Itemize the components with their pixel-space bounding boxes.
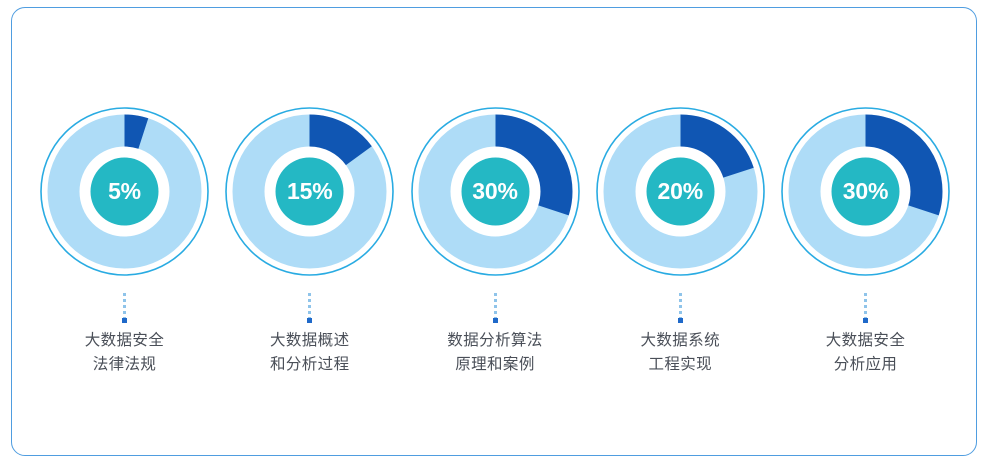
donut-svg <box>218 100 401 283</box>
donut-item: 30%数据分析算法原理和案例 <box>404 100 587 378</box>
donut-svg <box>774 100 957 283</box>
donut-center-disc <box>461 158 529 226</box>
caption-line: 原理和案例 <box>447 353 542 377</box>
donut-chart[interactable]: 5% <box>33 100 216 283</box>
caption-line: 和分析过程 <box>270 353 350 377</box>
connector-line <box>864 293 867 327</box>
donut-item: 5%大数据安全法律法规 <box>33 100 216 378</box>
infographic-root: 5%大数据安全法律法规15%大数据概述和分析过程30%数据分析算法原理和案例20… <box>0 0 990 464</box>
caption-line: 大数据安全 <box>85 329 165 353</box>
donut-chart[interactable]: 30% <box>774 100 957 283</box>
donut-center-disc <box>646 158 714 226</box>
connector-dots <box>308 293 311 319</box>
connector-end-dot <box>863 318 868 323</box>
donut-chart[interactable]: 30% <box>404 100 587 283</box>
donut-caption: 大数据安全法律法规 <box>85 329 165 378</box>
donut-caption: 大数据安全分析应用 <box>826 329 906 378</box>
connector-line <box>123 293 126 327</box>
connector-end-dot <box>307 318 312 323</box>
donut-chart-row: 5%大数据安全法律法规15%大数据概述和分析过程30%数据分析算法原理和案例20… <box>11 7 977 456</box>
donut-center-disc <box>832 158 900 226</box>
donut-chart[interactable]: 20% <box>589 100 772 283</box>
donut-caption: 大数据系统工程实现 <box>640 329 720 378</box>
donut-item: 30%大数据安全分析应用 <box>774 100 957 378</box>
caption-line: 大数据概述 <box>270 329 350 353</box>
donut-svg <box>404 100 587 283</box>
connector-end-dot <box>678 318 683 323</box>
donut-svg <box>589 100 772 283</box>
connector-line <box>308 293 311 327</box>
donut-center-disc <box>91 158 159 226</box>
caption-line: 大数据系统 <box>640 329 720 353</box>
connector-line <box>494 293 497 327</box>
donut-caption: 大数据概述和分析过程 <box>270 329 350 378</box>
donut-svg <box>33 100 216 283</box>
donut-center-disc <box>276 158 344 226</box>
donut-item: 15%大数据概述和分析过程 <box>218 100 401 378</box>
caption-line: 数据分析算法 <box>447 329 542 353</box>
connector-dots <box>864 293 867 319</box>
connector-line <box>679 293 682 327</box>
connector-end-dot <box>493 318 498 323</box>
caption-line: 分析应用 <box>826 353 906 377</box>
connector-dots <box>494 293 497 319</box>
donut-chart[interactable]: 15% <box>218 100 401 283</box>
caption-line: 大数据安全 <box>826 329 906 353</box>
caption-line: 工程实现 <box>640 353 720 377</box>
connector-dots <box>123 293 126 319</box>
connector-end-dot <box>122 318 127 323</box>
donut-caption: 数据分析算法原理和案例 <box>447 329 542 378</box>
donut-item: 20%大数据系统工程实现 <box>589 100 772 378</box>
connector-dots <box>679 293 682 319</box>
caption-line: 法律法规 <box>85 353 165 377</box>
